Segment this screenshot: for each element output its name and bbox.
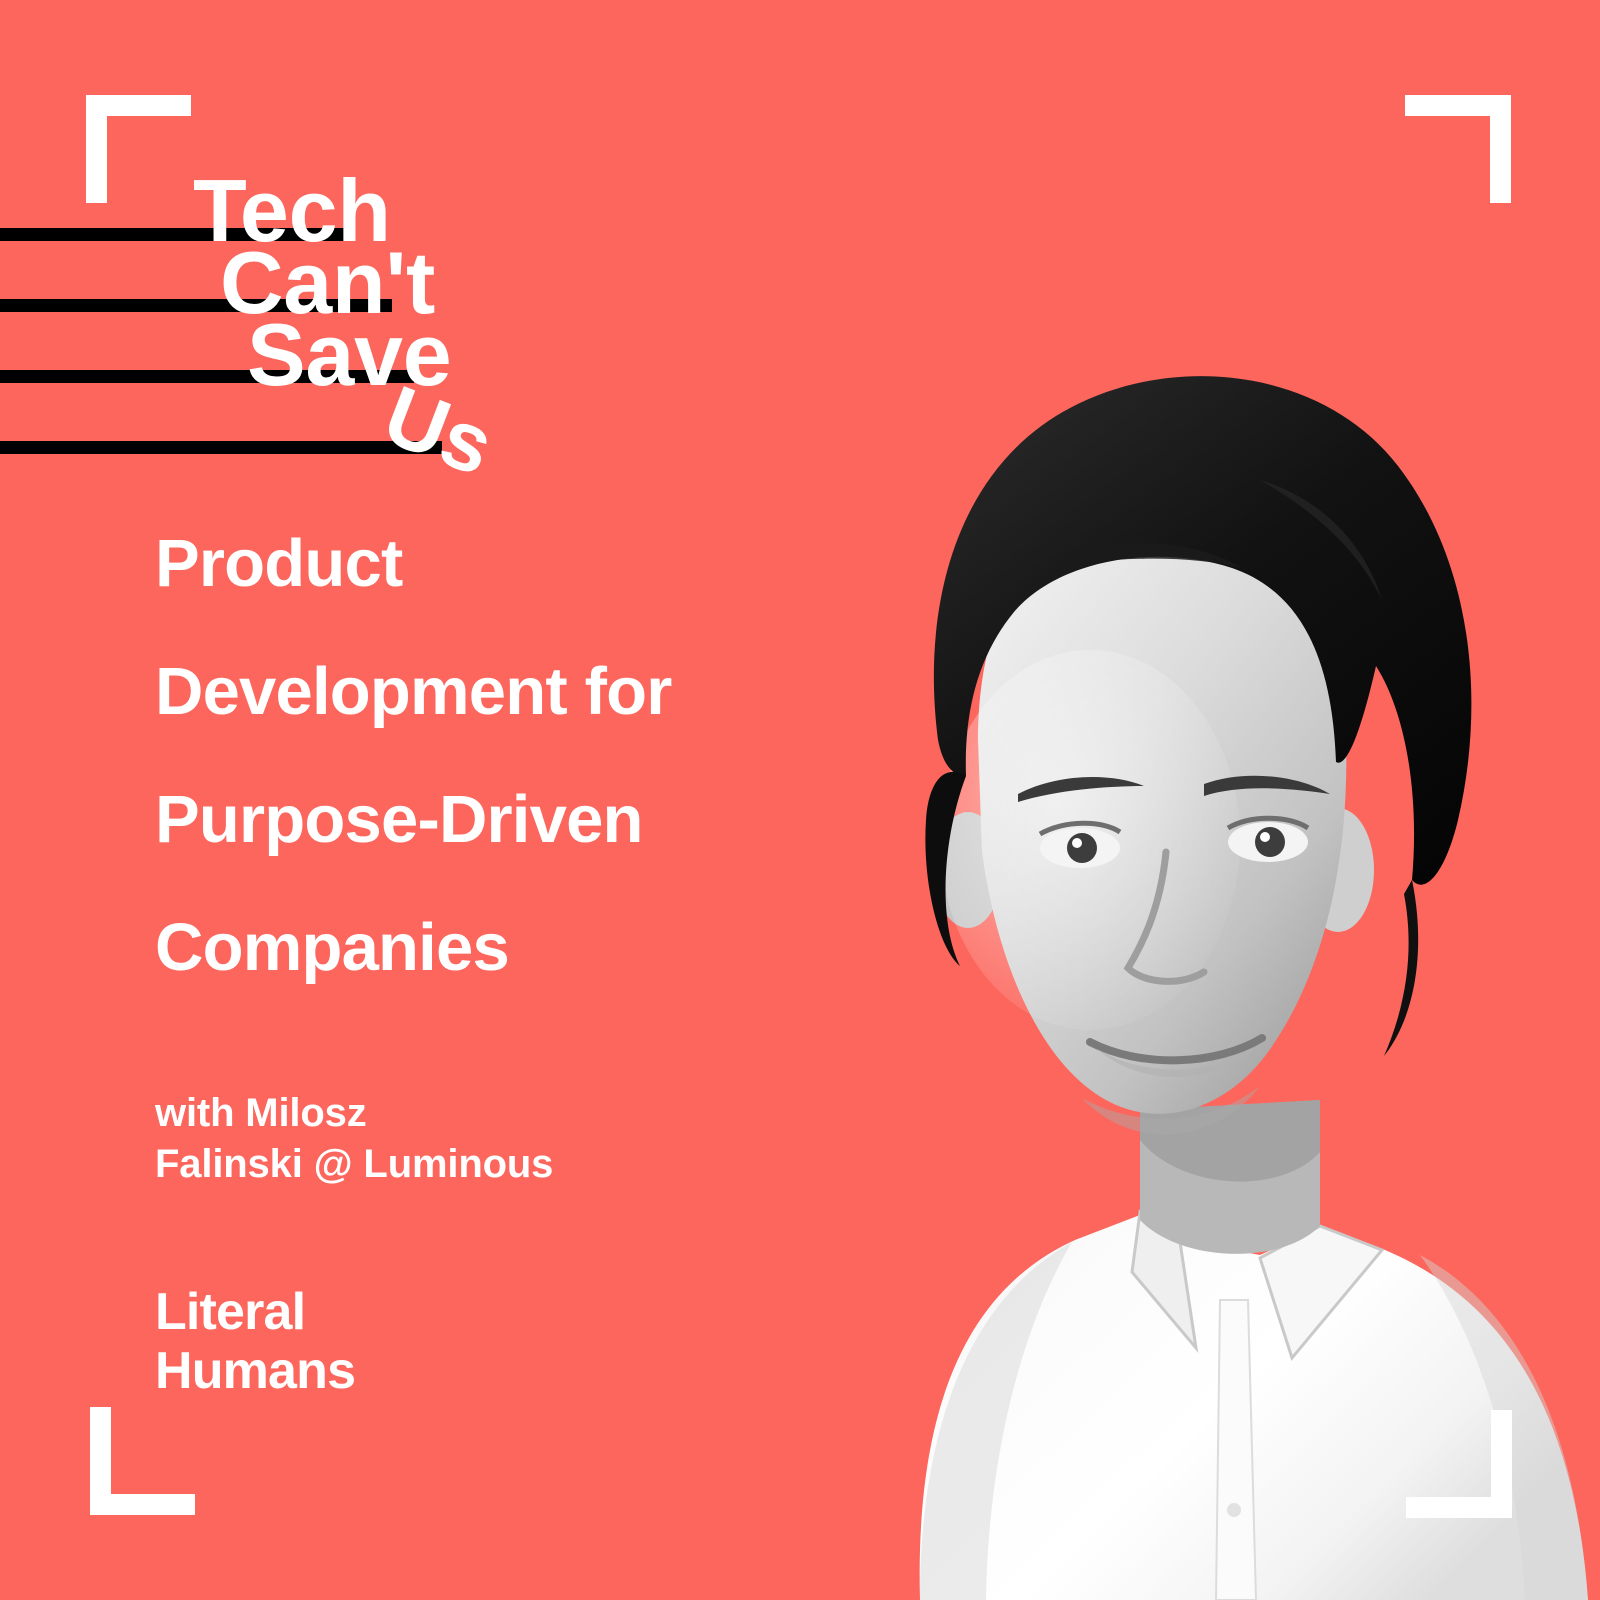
guest-credit-line: with Milosz — [155, 1088, 675, 1139]
bracket-arm-vertical — [90, 1407, 111, 1515]
title-line: Development for — [155, 658, 815, 725]
guest-credit: with Milosz Falinski @ Luminous — [155, 1088, 675, 1190]
title-line: Purpose-Driven — [155, 786, 815, 853]
title-line: Companies — [155, 914, 815, 981]
title-line: Product — [155, 530, 815, 597]
corner-bracket-top-left-icon — [86, 95, 191, 203]
podcast-cover-art: Tech Can't Save Us — [0, 0, 1600, 1600]
corner-bracket-bottom-left-icon — [90, 1407, 195, 1515]
corner-bracket-bottom-right-icon — [1406, 1410, 1512, 1518]
bracket-arm-vertical — [1491, 1410, 1512, 1518]
bracket-arm-vertical — [86, 95, 107, 203]
guest-credit-line: Falinski @ Luminous — [155, 1139, 675, 1190]
episode-title: Product Development for Purpose-Driven C… — [155, 530, 815, 981]
brand-logo-text: Literal Humans — [155, 1283, 355, 1401]
brand-line: Humans — [155, 1342, 355, 1401]
brand-line: Literal — [155, 1283, 355, 1342]
